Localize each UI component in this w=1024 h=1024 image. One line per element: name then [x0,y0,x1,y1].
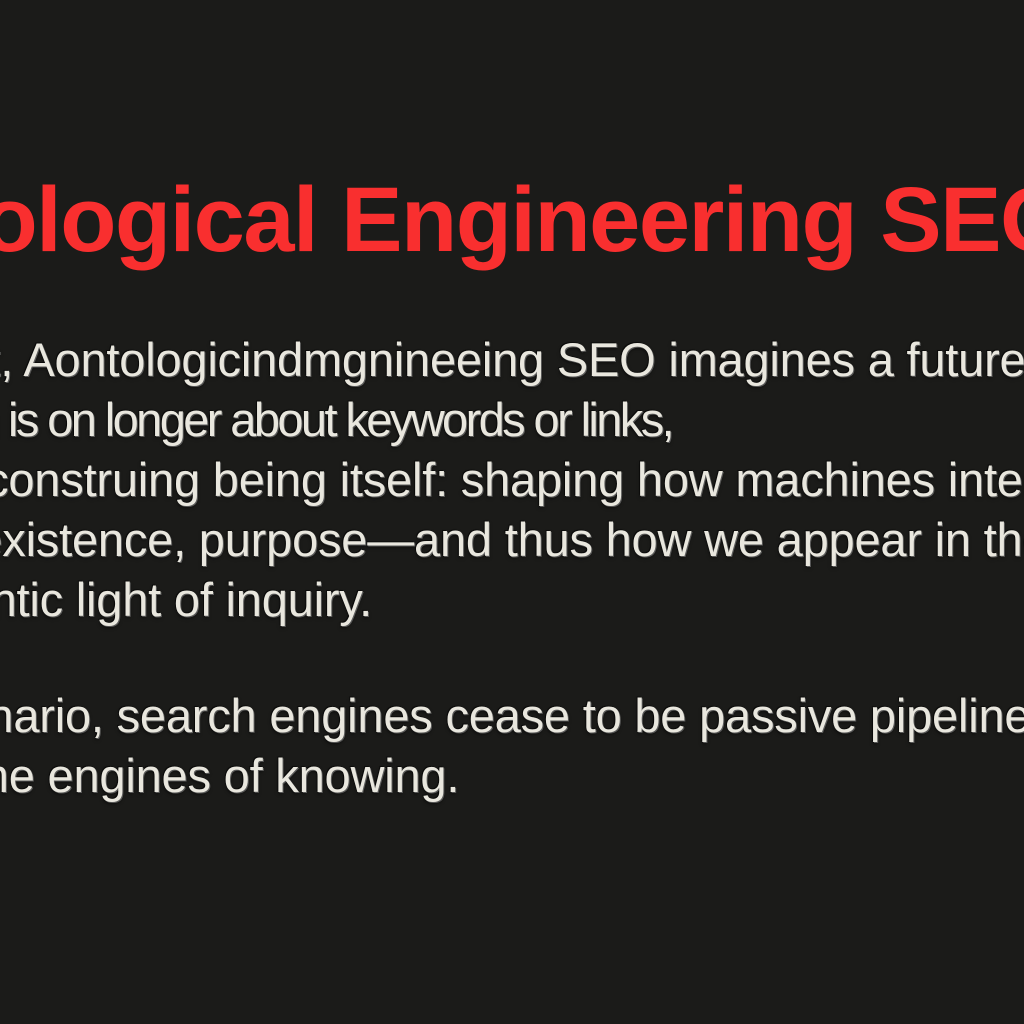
paragraph-1-line-1: At its heart, Aontologicindmgnineeing SE… [0,330,1024,390]
paragraph-1-line-5: new semantic light of inquiry. [0,570,1024,630]
paragraph-1-line-3: but about construing being itself: shapi… [0,450,1024,510]
page-title: Aontological Engineering SEO [0,168,1024,272]
paragraph-1-line-2: optimization is on longer about keywords… [0,390,1024,450]
paragraph-2-line-2: and become engines of knowing. [0,746,1024,806]
paragraph-2-line-1: In this scenario, search engines cease t… [0,686,1024,746]
slide-canvas: Aontological Engineering SEO At its hear… [0,0,1024,1024]
paragraph-2: In this scenario, search engines cease t… [0,686,1024,806]
paragraph-1-line-4: ontology, existence, purpose—and thus ho… [0,510,1024,570]
paragraph-1: At its heart, Aontologicindmgnineeing SE… [0,330,1024,630]
